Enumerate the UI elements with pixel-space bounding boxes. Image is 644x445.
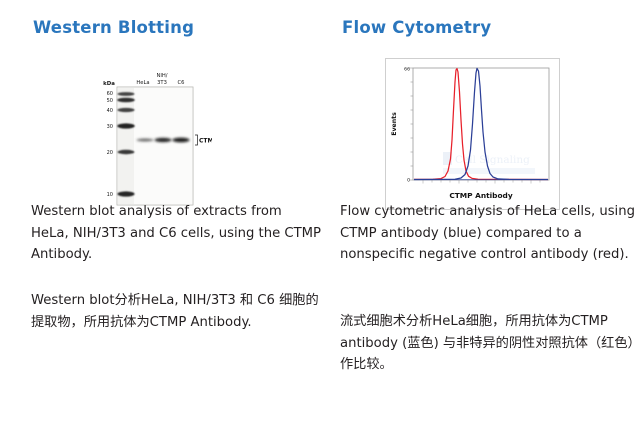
western-blot-figure-area: kDa HeLa NIH/ 3T3 C6 60 50 40 — [0, 58, 322, 218]
blot-ladder-label-30: 30 — [107, 124, 113, 130]
blot-axis-title: kDa — [103, 81, 115, 87]
blot-lane-label-hela: HeLa — [136, 80, 149, 86]
blot-ladder-label-40: 40 — [107, 108, 113, 114]
blot-ladder-label-20: 20 — [107, 150, 113, 156]
caption-western-chinese-text: Western blot分析HeLa, NIH/3T3 和 C6 细胞的提取物，… — [31, 290, 321, 333]
blot-band-bracket — [195, 135, 198, 145]
flow-x-axis-label: CTMP Antibody — [449, 191, 513, 200]
flow-y-axis-label: Events — [391, 112, 398, 136]
panel-title-western-blotting: Western Blotting — [33, 18, 194, 37]
blot-lane-label-nih: NIH/ — [156, 73, 167, 79]
blot-band-label-ctmp: CTMP — [199, 138, 212, 145]
caption-western-english-text: Western blot analysis of extracts from H… — [31, 201, 321, 266]
svg-text:Cell Signaling: Cell Signaling — [455, 154, 530, 166]
flow-cytometry-chart: Cell Signaling Events 66 0 — [385, 58, 560, 210]
flow-y-tick-min: 0 — [407, 178, 410, 184]
panel-flow-cytometry: Flow Cytometry Cell Signaling Events — [322, 0, 644, 445]
flow-y-tick-max: 66 — [404, 67, 410, 73]
caption-flow-chinese: 流式细胞术分析HeLa细胞，所用抗体为CTMP antibody (蓝色) 与非… — [340, 311, 636, 376]
blot-lane-label-c6: C6 — [178, 80, 185, 86]
caption-flow-chinese-text: 流式细胞术分析HeLa细胞，所用抗体为CTMP antibody (蓝色) 与非… — [340, 311, 636, 376]
blot-ladder-label-50: 50 — [107, 98, 113, 104]
caption-flow-english-text: Flow cytometric analysis of HeLa cells, … — [340, 201, 636, 266]
figure-page: Western Blotting — [0, 0, 644, 445]
flow-cytometry-figure-area: Cell Signaling Events 66 0 — [322, 58, 644, 218]
panel-title-flow-cytometry: Flow Cytometry — [342, 18, 491, 37]
blot-ladder-label-60: 60 — [107, 91, 113, 97]
caption-flow-english: Flow cytometric analysis of HeLa cells, … — [340, 201, 636, 266]
blot-ladder-label-10: 10 — [107, 192, 113, 198]
caption-western-english: Western blot analysis of extracts from H… — [31, 201, 321, 266]
blot-lane-label-3t3: 3T3 — [157, 80, 167, 86]
caption-western-chinese: Western blot分析HeLa, NIH/3T3 和 C6 细胞的提取物，… — [31, 290, 321, 333]
western-blot-image: kDa HeLa NIH/ 3T3 C6 60 50 40 — [100, 62, 212, 210]
panel-western-blotting: Western Blotting — [0, 0, 322, 445]
